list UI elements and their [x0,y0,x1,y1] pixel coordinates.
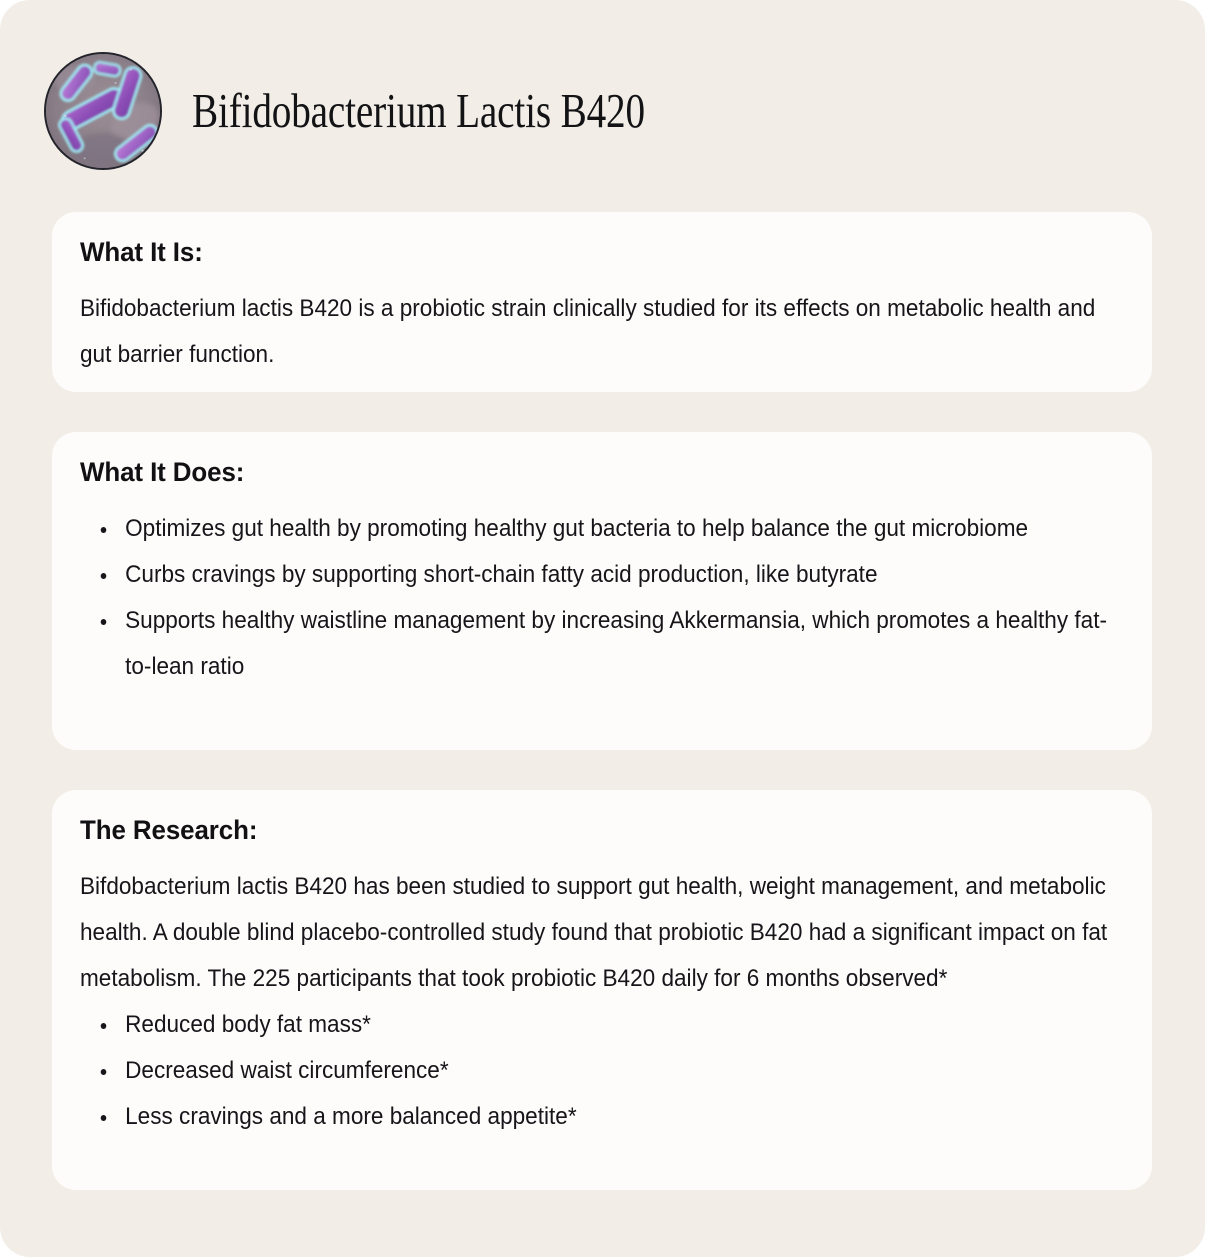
list-item: Decreased waist circumference* [80,1048,1120,1094]
avatar [44,52,162,170]
bacteria-microscopy-icon [46,54,160,168]
page-title: Bifidobacterium Lactis B420 [192,85,645,136]
list-item: Supports healthy waistline management by… [80,598,1120,690]
list-item: Less cravings and a more balanced appeti… [80,1094,1120,1140]
card-heading-what-it-does: What It Does: [80,458,1082,488]
card-paragraph-the-research: Bifdobacterium lactis B420 has been stud… [80,864,1120,1002]
list-item: Curbs cravings by supporting short-chain… [80,552,1120,598]
page-header: Bifidobacterium Lactis B420 [44,52,758,170]
card-heading-the-research: The Research: [80,816,1082,846]
research-findings-list: Reduced body fat mass* Decreased waist c… [80,1002,1120,1140]
card-what-it-is: What It Is: Bifidobacterium lactis B420 … [52,212,1152,392]
card-heading-what-it-is: What It Is: [80,238,1082,268]
benefits-list: Optimizes gut health by promoting health… [80,506,1120,690]
card-the-research: The Research: Bifdobacterium lactis B420… [52,790,1152,1190]
card-paragraph-what-it-is: Bifidobacterium lactis B420 is a probiot… [80,286,1120,378]
card-what-it-does: What It Does: Optimizes gut health by pr… [52,432,1152,750]
list-item: Optimizes gut health by promoting health… [80,506,1120,552]
list-item: Reduced body fat mass* [80,1002,1120,1048]
supplement-ingredient-page: Bifidobacterium Lactis B420 What It Is: … [0,0,1205,1257]
